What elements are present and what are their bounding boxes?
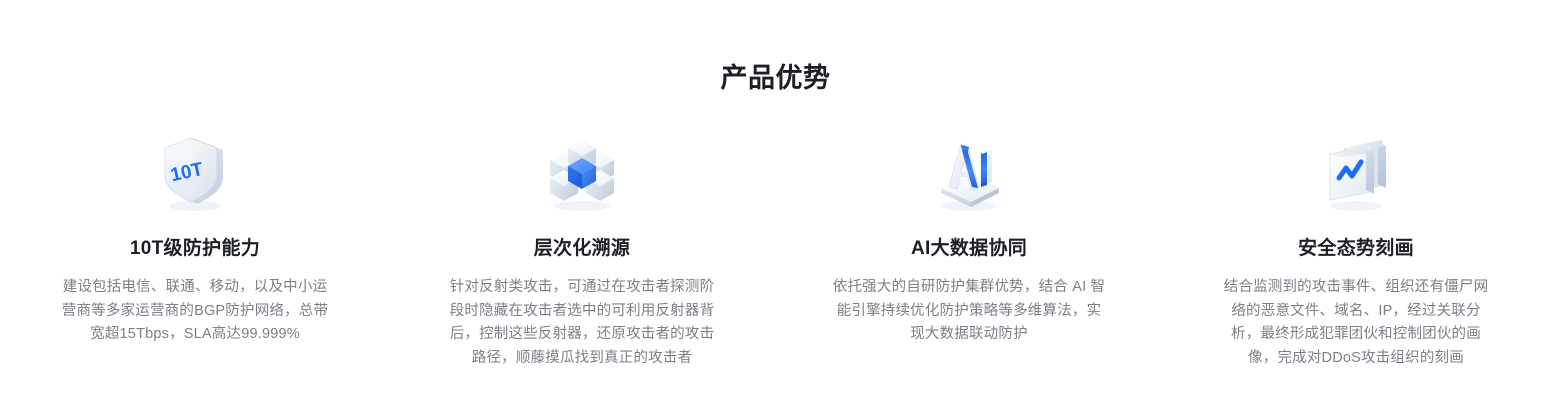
advantage-card-title: 安全态势刻画 [1298, 236, 1414, 262]
advantage-card-description: 结合监测到的攻击事件、组织还有僵尸网络的恶意文件、域名、IP，经过关联分析，最终… [1218, 276, 1494, 370]
ai-blocks-icon [921, 130, 1017, 214]
advantage-card-title: AI大数据协同 [911, 236, 1027, 262]
product-advantages-section: 产品优势 [0, 0, 1551, 420]
advantage-card-1[interactable]: 10T 10T级防护能力 建设包括电信、联通、移动，以及中小运营商等多家运营商的… [2, 130, 389, 347]
cube-cluster-icon [534, 130, 630, 214]
advantage-card-description: 依托强大的自研防护集群优势，结合 AI 智能引擎持续优化防护策略等多维算法，实现… [831, 276, 1107, 347]
advantage-card-description: 建设包括电信、联通、移动，以及中小运营商等多家运营商的BGP防护网络，总带宽超1… [57, 276, 333, 347]
advantage-card-3[interactable]: AI大数据协同 依托强大的自研防护集群优势，结合 AI 智能引擎持续优化防护策略… [776, 130, 1163, 347]
advantage-card-title: 10T级防护能力 [130, 236, 260, 262]
wave-card-icon [1308, 130, 1404, 214]
advantage-card-4[interactable]: 安全态势刻画 结合监测到的攻击事件、组织还有僵尸网络的恶意文件、域名、IP，经过… [1163, 130, 1550, 370]
advantage-card-list: 10T 10T级防护能力 建设包括电信、联通、移动，以及中小运营商等多家运营商的… [0, 130, 1551, 370]
advantage-card-title: 层次化溯源 [534, 236, 631, 262]
advantage-card-description: 针对反射类攻击，可通过在攻击者探测阶段时隐藏在攻击者选中的可利用反射器背后，控制… [444, 276, 720, 370]
page-title: 产品优势 [0, 58, 1551, 98]
shield-10t-icon: 10T [147, 130, 243, 214]
advantage-card-2[interactable]: 层次化溯源 针对反射类攻击，可通过在攻击者探测阶段时隐藏在攻击者选中的可利用反射… [389, 130, 776, 370]
